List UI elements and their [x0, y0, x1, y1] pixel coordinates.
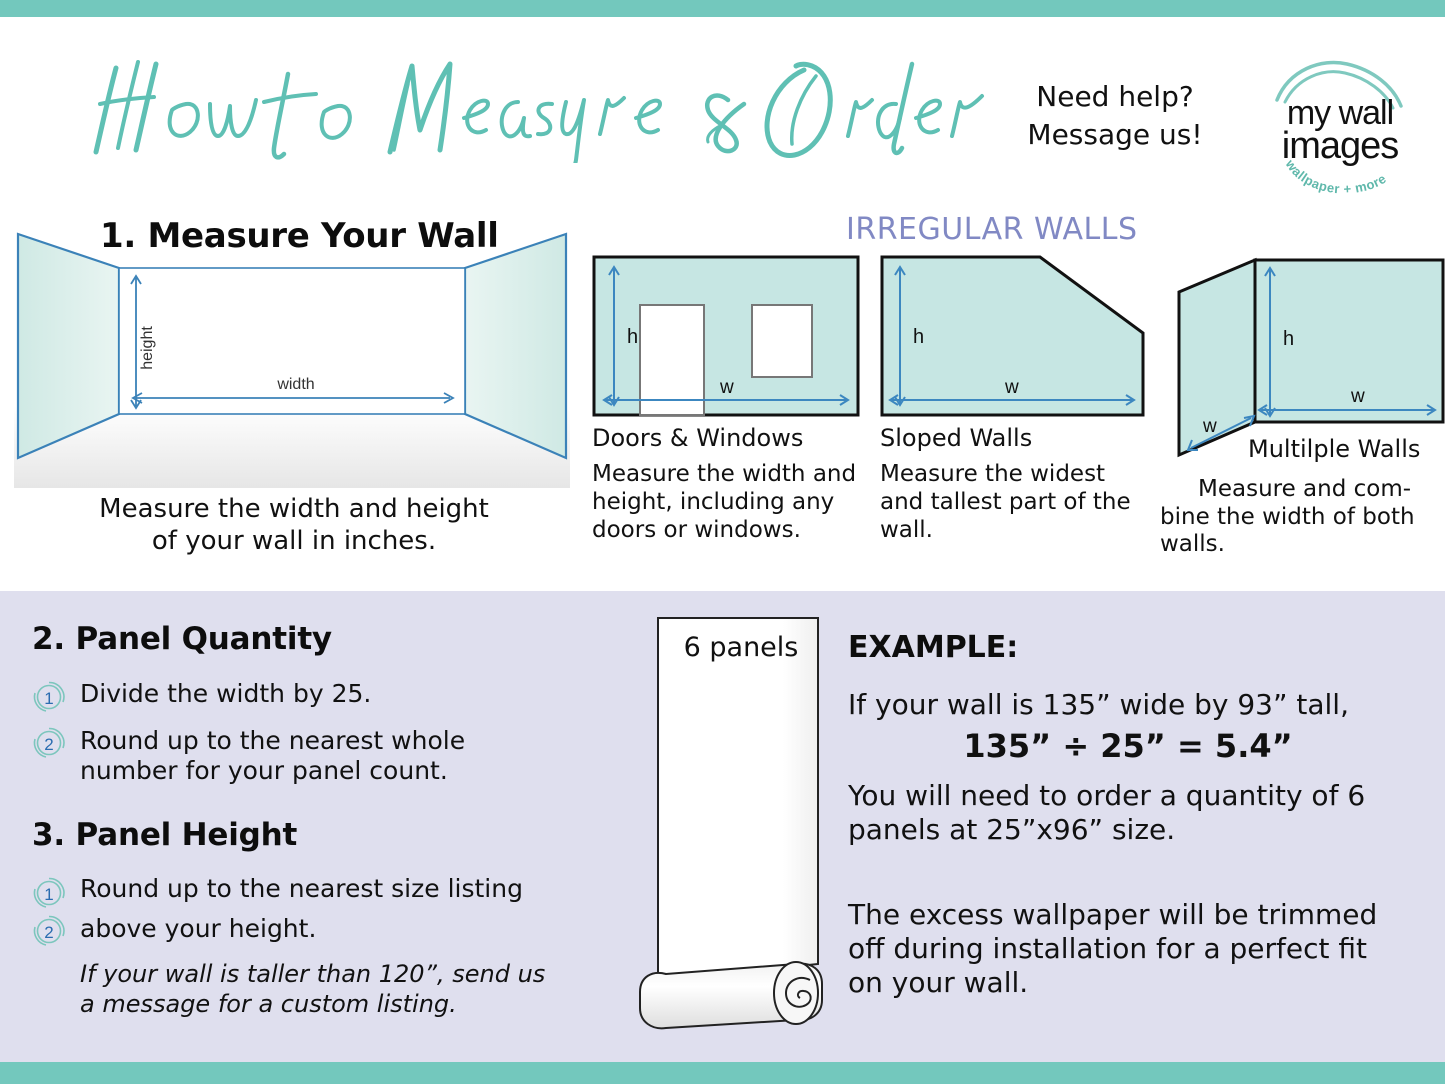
label-h: h	[1283, 328, 1294, 350]
brand-logo: my wall images wallpaper + more	[1255, 52, 1425, 197]
top-accent-bar	[0, 0, 1445, 17]
svg-text:1: 1	[44, 689, 53, 708]
irregular-card-text: Measure and com- bine the width of both …	[1160, 476, 1445, 559]
room-perspective-diagram: height width	[14, 226, 570, 488]
example-line-1: If your wall is 135” wide by 93” tall,	[848, 688, 1428, 722]
need-help-text: Need help? Message us!	[1000, 78, 1230, 154]
step3-item-text: Round up to the nearest size listing	[80, 874, 580, 904]
step1-caption-line-2: of your wall in inches.	[20, 525, 568, 557]
step2-item-text: Round up to the nearest whole number for…	[80, 726, 560, 786]
example-equation: 135” ÷ 25” = 5.4”	[848, 727, 1408, 765]
irregular-card-sloped-walls: h w Sloped Walls Measure the widest and …	[880, 255, 1145, 544]
irregular-card-text-line-3: walls.	[1160, 531, 1225, 557]
irregular-card-title: Multilple Walls	[1248, 435, 1420, 463]
example-heading: EXAMPLE:	[848, 630, 1018, 665]
step1-caption: Measure the width and height of your wal…	[20, 493, 568, 557]
svg-text:2: 2	[44, 923, 53, 942]
irregular-card-title: Sloped Walls	[880, 425, 1145, 451]
bullet-number-icon: 1	[32, 876, 66, 910]
svg-text:1: 1	[44, 885, 53, 904]
step2-item-text: Divide the width by 25.	[80, 679, 560, 709]
svg-text:width: width	[276, 376, 314, 393]
irregular-card-text-line-1: Measure and com-	[1160, 476, 1445, 504]
wallpaper-roll-illustration	[626, 612, 836, 1037]
label-h: h	[627, 326, 638, 348]
label-h: h	[913, 326, 924, 348]
svg-text:images: images	[1282, 125, 1399, 167]
label-w: w	[719, 377, 734, 398]
step2-heading: 2. Panel Quantity	[32, 621, 332, 657]
irregular-card-text: Measure the widest and tallest part of t…	[880, 461, 1145, 544]
bullet-number-icon: 1	[32, 680, 66, 714]
page-title	[60, 48, 990, 163]
svg-text:2: 2	[44, 735, 53, 754]
irregular-card-text: Measure the width and height, including …	[592, 461, 860, 544]
roll-panel-count-label: 6 panels	[656, 632, 826, 663]
need-help-line-1: Need help?	[1000, 78, 1230, 116]
step1-caption-line-1: Measure the width and height	[20, 493, 568, 525]
irregular-card-multiple-walls-figure: h w w	[1165, 250, 1445, 465]
step3-note: If your wall is taller than 120”, send u…	[80, 959, 550, 1019]
label-w: w	[1004, 377, 1019, 398]
infographic-page: Need help? Message us! my wall images wa…	[0, 0, 1445, 1084]
step3-heading: 3. Panel Height	[32, 817, 297, 853]
bottom-accent-bar	[0, 1062, 1445, 1084]
example-tail-note: The excess wallpaper will be trimmed off…	[848, 898, 1408, 1000]
irregular-walls-heading: IRREGULAR WALLS	[846, 212, 1138, 247]
irregular-card-title: Doors & Windows	[592, 425, 860, 451]
irregular-card-text-line-2: bine the width of both	[1160, 504, 1415, 530]
label-w: w	[1202, 416, 1217, 437]
irregular-card-doors-windows: h w Doors & Windows Measure the width an…	[592, 255, 860, 544]
need-help-line-2: Message us!	[1000, 116, 1230, 154]
example-body: You will need to order a quantity of 6 p…	[848, 779, 1418, 847]
bullet-number-icon: 2	[32, 914, 66, 948]
bullet-number-icon: 2	[32, 726, 66, 760]
svg-text:height: height	[139, 326, 156, 370]
step3-item-text: above your height.	[80, 914, 580, 944]
label-w: w	[1350, 386, 1365, 407]
